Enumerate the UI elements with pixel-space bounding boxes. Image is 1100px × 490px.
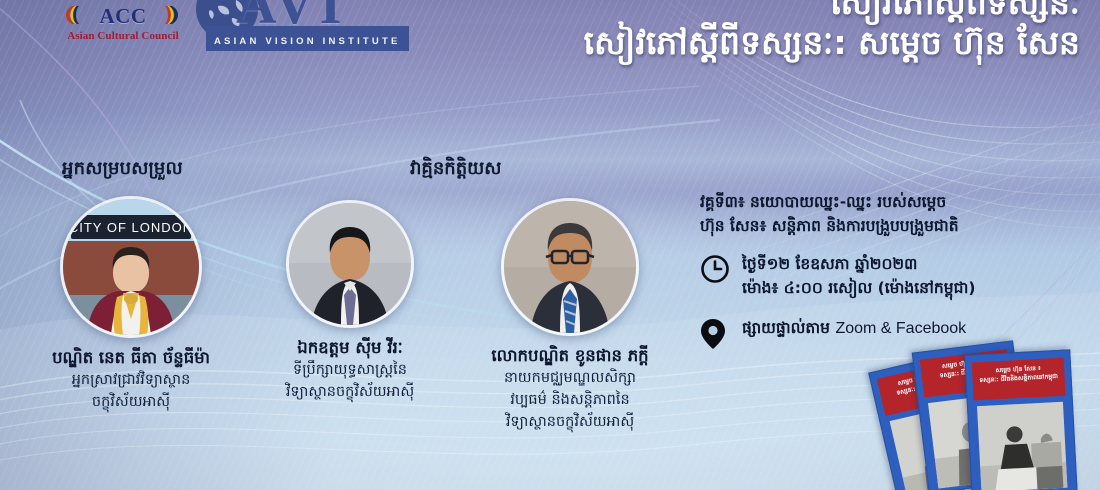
avatar-3 bbox=[501, 198, 639, 336]
event-topic-line-2: ហ៊ុន សែន៖ សន្តិភាព និងការបង្រួបបង្រួមជាត… bbox=[700, 214, 1092, 238]
person-role-3-line-3: វិទ្យាស្ថានចក្ខុវិស័យអាស៊ី bbox=[452, 412, 688, 433]
svg-text:CITY OF LONDON: CITY OF LONDON bbox=[69, 220, 193, 235]
avi-name-bar: ASIAN VISION INSTITUTE bbox=[206, 26, 409, 51]
event-datetime-row: ថ្ងៃទី១២ ខែឧសភា ឆ្នាំ២០២៣ ម៉ោង៖ ៤:០០ រសៀ… bbox=[700, 252, 1092, 300]
avi-logo: AVI ASIAN VISION INSTITUTE bbox=[196, 0, 386, 54]
person-name-3: លោកបណ្ឌិត ខូនផាន ភក្តី bbox=[452, 345, 688, 367]
acc-full-name: Asian Cultural Council bbox=[62, 30, 184, 43]
person-card-2: ឯកឧត្តម ស៊ីម វីរៈ ទីប្រឹក្សាយុទ្ធសាស្ត្រ… bbox=[246, 200, 454, 403]
acc-bracket-right-icon bbox=[165, 5, 182, 25]
event-time: ម៉ោង៖ ៤:០០ រសៀល (ម៉ោងនៅកម្ពុជា) bbox=[742, 276, 975, 300]
avi-full-name: ASIAN VISION INSTITUTE bbox=[214, 36, 401, 47]
person-role-1-line-1: អ្នកស្រាវជ្រាវវិទ្យាស្ថាន bbox=[18, 370, 244, 391]
event-date: ថ្ងៃទី១២ ខែឧសភា ឆ្នាំ២០២៣ bbox=[742, 252, 975, 276]
event-info: វគ្គទី៣៖ នយោបាយឈ្នះ-ឈ្នះ របស់សម្តេច ហ៊ុន… bbox=[700, 190, 1092, 350]
section-heading-moderator: អ្នកសម្របសម្រួល bbox=[62, 156, 183, 183]
person-role-1-line-2: ចក្ខុវិស័យអាស៊ី bbox=[18, 392, 244, 413]
person-role-3-line-1: នាយកមជ្ឈមណ្ឌលសិក្សា bbox=[452, 368, 688, 389]
section-heading-speaker: វាគ្មិនកិត្តិយស bbox=[410, 156, 501, 183]
person-role-2-line-2: វិទ្យាស្ថានចក្ខុវិស័យអាស៊ី bbox=[246, 382, 454, 403]
map-pin-icon bbox=[700, 316, 742, 350]
book-stack: សម្តេច ហ៊ុន សែន ៖ ទស្សនៈ: ជីវិតនិងស្នាដៃ… bbox=[880, 338, 1100, 490]
event-location-khmer: ផ្សាយផ្ទាល់តាម bbox=[742, 319, 830, 337]
person-role-2-line-1: ទីប្រឹក្សាយុទ្ធសាស្ត្រនៃ bbox=[246, 360, 454, 381]
book-title-band-3: សម្តេច ហ៊ុន សែន ៖ ទស្សនៈ: ជីវិតនិងសន្តិភ… bbox=[972, 358, 1066, 401]
person-card-1: CITY OF LONDON បណ្ឌិត នេត ធីតា ច័ន្ទធីម៉… bbox=[18, 196, 244, 413]
book-cover-3: សម្តេច ហ៊ុន សែន ៖ ទស្សនៈ: ជីវិតនិងសន្តិភ… bbox=[964, 349, 1077, 490]
person-name-2: ឯកឧត្តម ស៊ីម វីរៈ bbox=[246, 337, 454, 359]
webinar-poster: ACC Asian Cultural Council bbox=[0, 0, 1100, 490]
person-role-3-line-2: វប្បធម៌ និងសន្តិភាពនៃ bbox=[452, 390, 688, 411]
acc-logo: ACC Asian Cultural Council bbox=[62, 2, 184, 48]
event-topic-line-1: វគ្គទី៣៖ នយោបាយឈ្នះ-ឈ្នះ របស់សម្តេច bbox=[700, 190, 1092, 214]
acc-bracket-left-icon bbox=[62, 5, 79, 25]
book-photo-3 bbox=[977, 402, 1067, 490]
title-line-1: សៀវភៅស្តីពីទស្សនៈ bbox=[460, 0, 1080, 22]
avatar-1: CITY OF LONDON bbox=[60, 196, 202, 338]
event-location-platforms: Zoom & Facebook bbox=[835, 320, 966, 337]
person-name-1: បណ្ឌិត នេត ធីតា ច័ន្ទធីម៉ា bbox=[18, 347, 244, 369]
logo-group: ACC Asian Cultural Council bbox=[0, 0, 420, 58]
poster-title: សៀវភៅស្តីពីទស្សនៈ សៀវភៅស្តីពីទស្សនៈ: សម្… bbox=[460, 0, 1080, 64]
clock-icon bbox=[700, 252, 742, 284]
avatar-2 bbox=[286, 200, 414, 328]
title-line-2: សៀវភៅស្តីពីទស្សនៈ: សម្តេច ហ៊ុន សែន bbox=[460, 22, 1080, 64]
person-card-3: លោកបណ្ឌិត ខូនផាន ភក្តី នាយកមជ្ឈមណ្ឌលសិក្… bbox=[452, 198, 688, 433]
